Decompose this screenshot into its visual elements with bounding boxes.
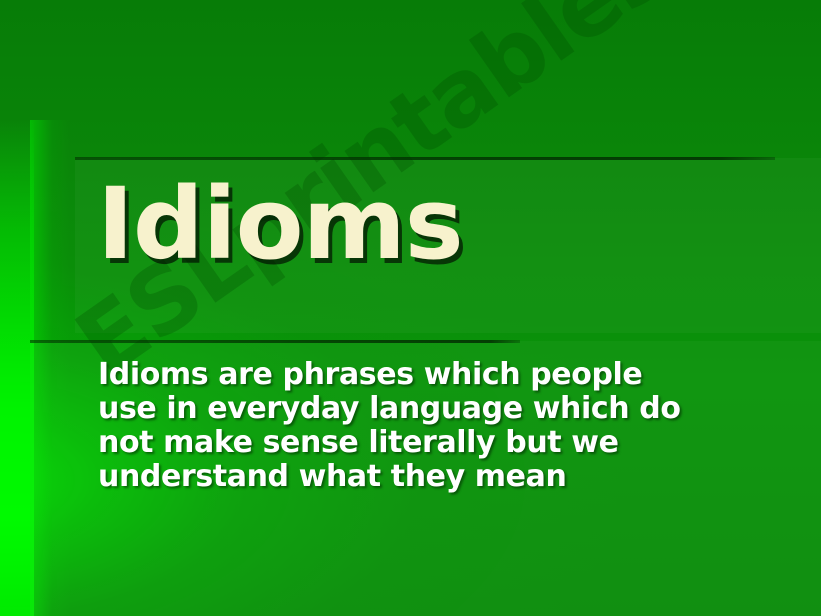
title-divider-rule: [75, 157, 775, 160]
slide-title: Idioms: [97, 172, 463, 277]
left-accent-band-fade: [30, 120, 70, 616]
left-accent-band: [0, 120, 34, 616]
body-divider-rule: [30, 340, 520, 343]
slide-body-text: Idioms are phrases which people use in e…: [98, 358, 698, 494]
background-glow: [0, 0, 821, 616]
slide-canvas: ESLprintables.com Idioms Idioms are phra…: [0, 0, 821, 616]
